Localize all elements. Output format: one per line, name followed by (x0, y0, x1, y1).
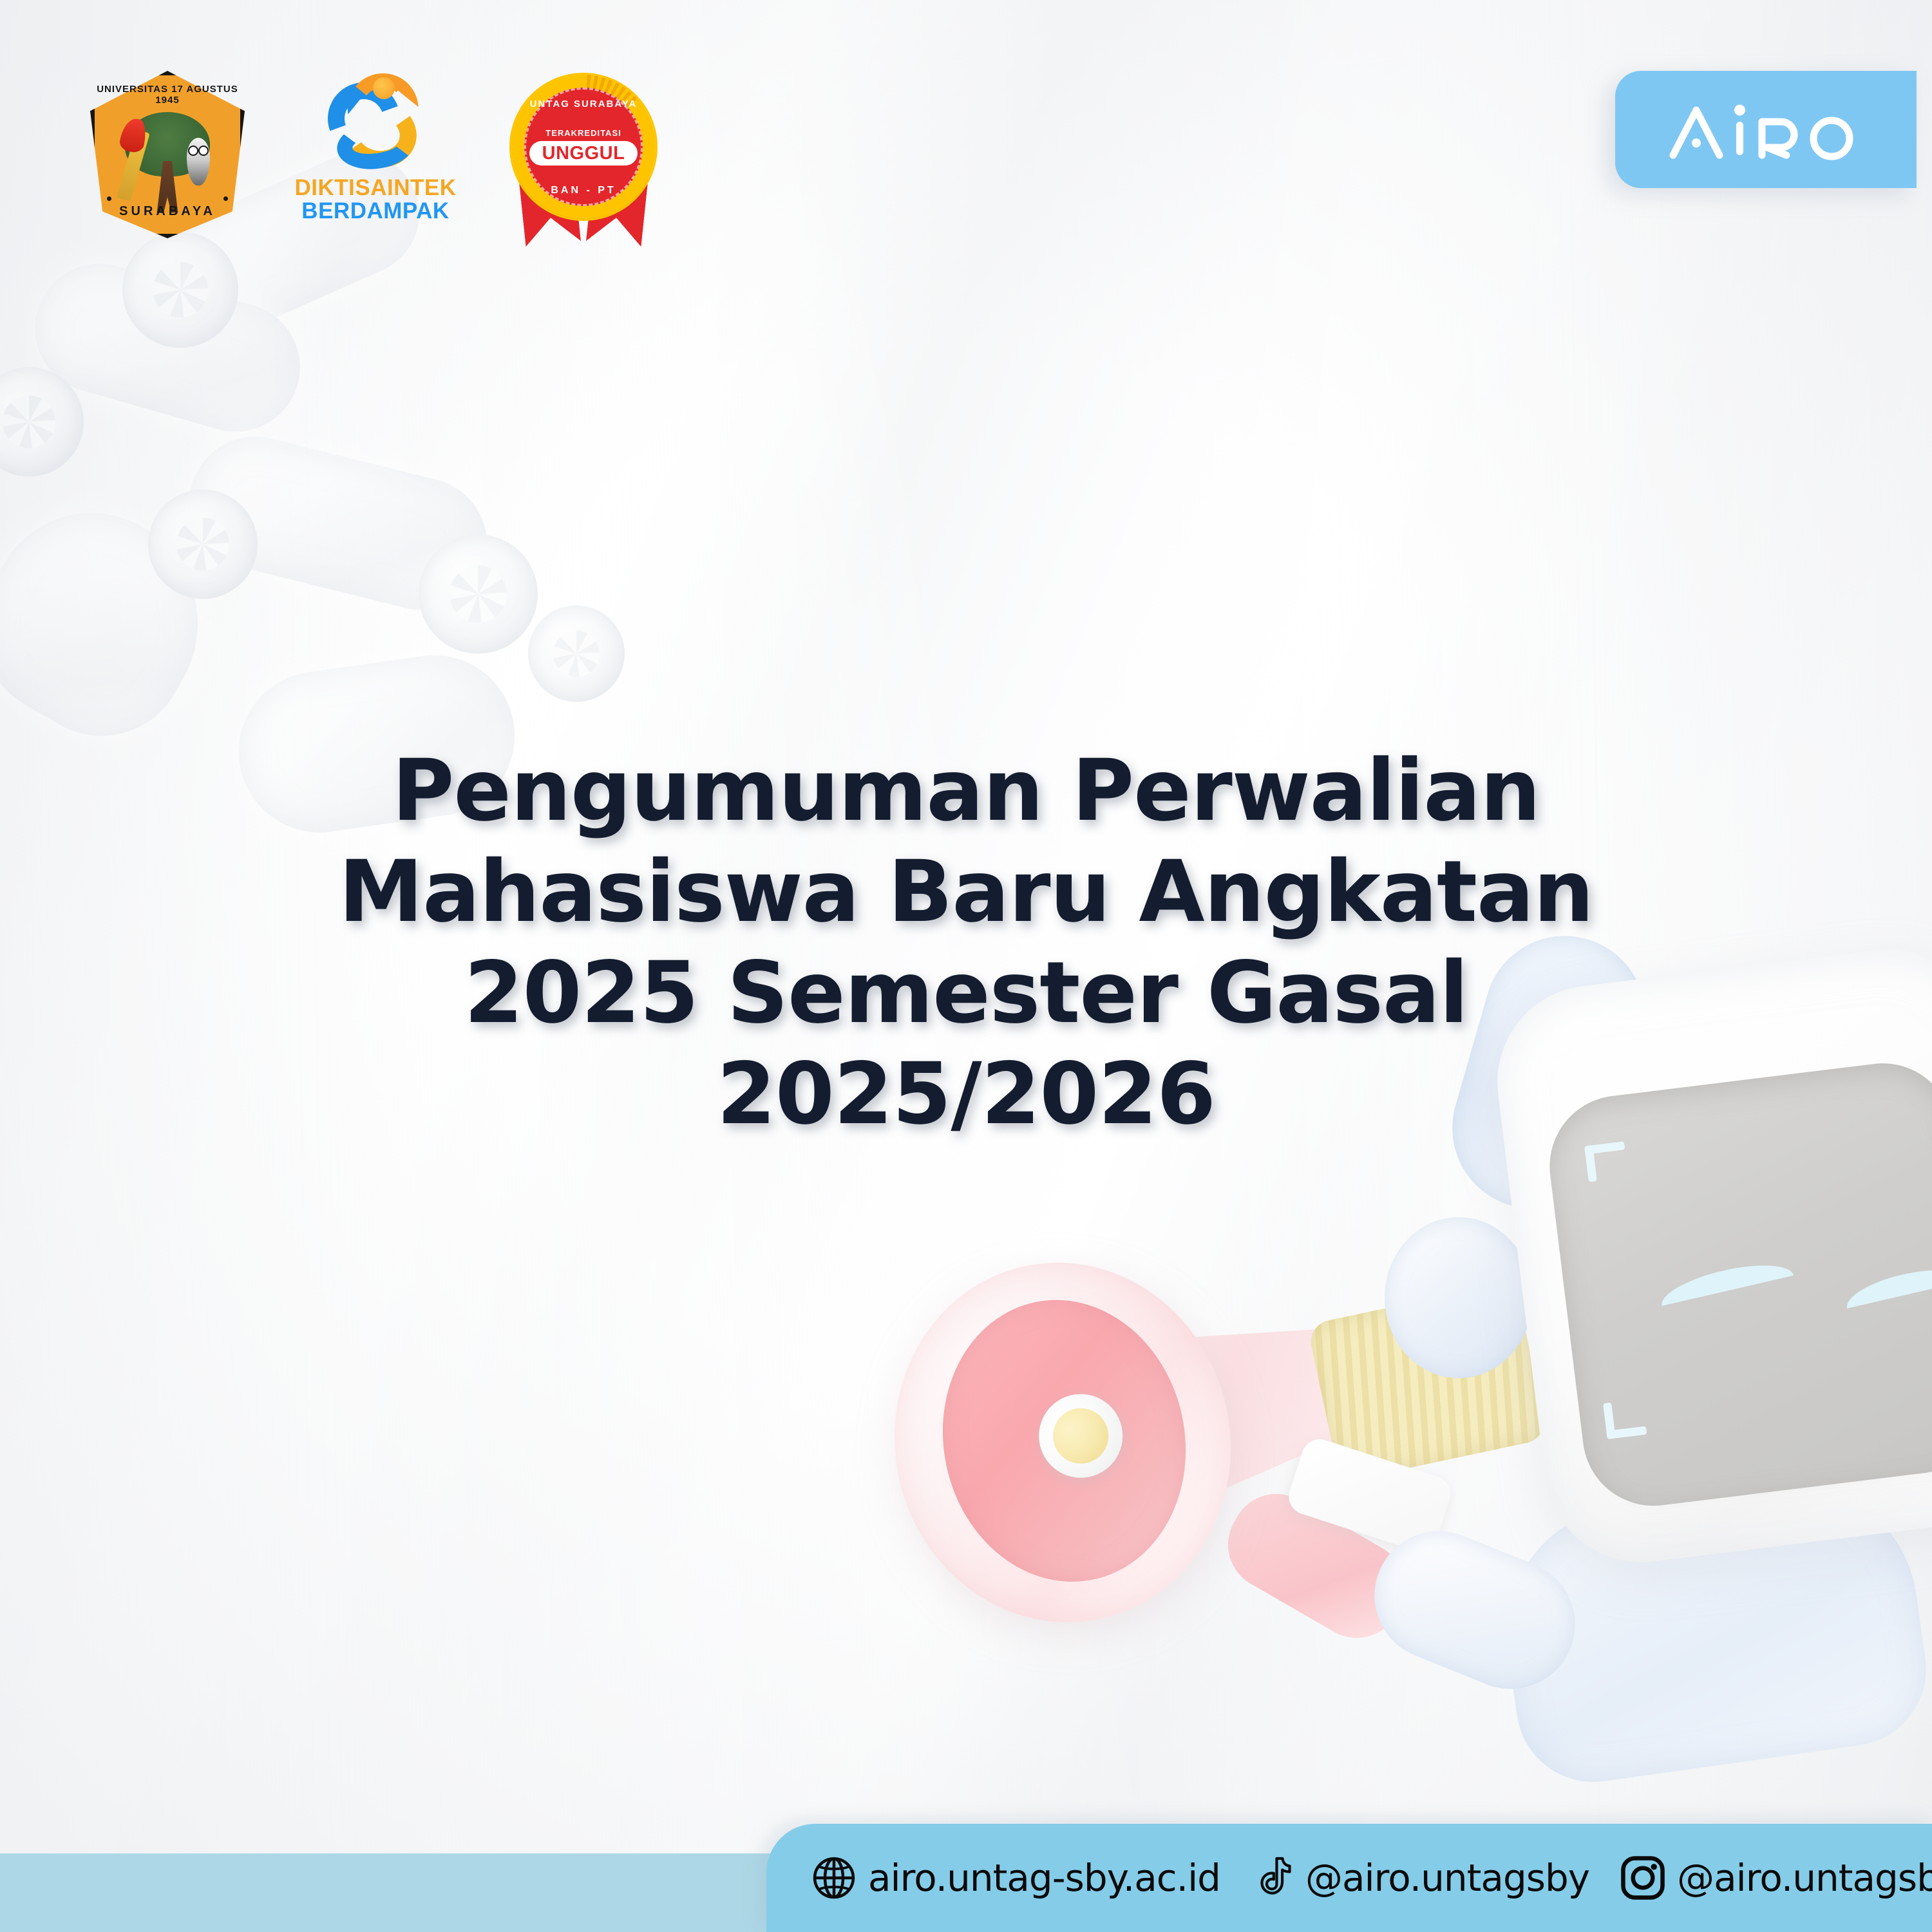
title-line: 2025 Semester Gasal (116, 943, 1816, 1044)
page-title: Pengumuman Perwalian Mahasiswa Baru Angk… (0, 741, 1932, 1145)
unggul-grade-label: UNGGUL (529, 141, 638, 166)
diktisaintek-emblem-icon (324, 71, 427, 174)
instagram-icon (1618, 1853, 1668, 1903)
akreditasi-unggul-badge: UNTAG SURABAYA TERAKREDITASI UNGGUL BAN … (506, 71, 661, 241)
website-url-label: airo.untag-sby.ac.id (868, 1856, 1220, 1900)
seal-inner-circle: UNTAG SURABAYA TERAKREDITASI UNGGUL BAN … (524, 88, 643, 206)
instagram-handle-label: @airo.untagsby (1677, 1856, 1932, 1900)
tiktok-handle-label: @airo.untagsby (1305, 1856, 1589, 1900)
title-line: Mahasiswa Baru Angkatan (116, 842, 1816, 943)
untag-arc-bottom-text: SURABAYA (90, 204, 245, 219)
title-line: Pengumuman Perwalian (116, 741, 1816, 842)
untag-arc-top-text: UNIVERSITAS 17 AGUSTUS 1945 (90, 84, 245, 106)
corner-bracket-icon (1584, 1141, 1629, 1186)
robot-eye-icon (1657, 1255, 1794, 1305)
header-logo-row: UNIVERSITAS 17 AGUSTUS 1945 SURABAYA DIK… (90, 71, 661, 241)
seal-arc-top-text: UNTAG SURABAYA (526, 99, 641, 109)
seal-arc-bottom-text: BAN - PT (526, 185, 641, 196)
untag-surabaya-logo: UNIVERSITAS 17 AGUSTUS 1945 SURABAYA (90, 71, 245, 238)
airo-wordmark-icon (1669, 96, 1862, 163)
diktisaintek-label: DIKTISAINTEK (295, 176, 457, 199)
tiktok-icon (1249, 1853, 1296, 1903)
ornament-dot-icon (223, 196, 228, 201)
airo-logo-badge[interactable] (1615, 71, 1917, 188)
title-line: 2025/2026 (116, 1044, 1816, 1145)
footer-contact-panel: airo.untag-sby.ac.id @airo.untagsby @air… (766, 1824, 1932, 1932)
footer-item-website[interactable]: airo.untag-sby.ac.id (809, 1853, 1220, 1903)
ornament-dot-icon (107, 196, 111, 201)
diktisaintek-berdampak-logo: DIKTISAINTEK BERDAMPAK (282, 71, 469, 238)
footer-item-instagram[interactable]: @airo.untagsby (1618, 1853, 1932, 1903)
corner-bracket-icon (1602, 1395, 1647, 1439)
announcement-poster: UNIVERSITAS 17 AGUSTUS 1945 SURABAYA DIK… (0, 0, 1932, 1932)
robot-eye-icon (1842, 1261, 1932, 1309)
terakreditasi-label: TERAKREDITASI (545, 128, 621, 138)
globe-icon (809, 1853, 859, 1903)
berdampak-label: BERDAMPAK (301, 199, 449, 224)
footer-item-tiktok[interactable]: @airo.untagsby (1249, 1853, 1589, 1903)
